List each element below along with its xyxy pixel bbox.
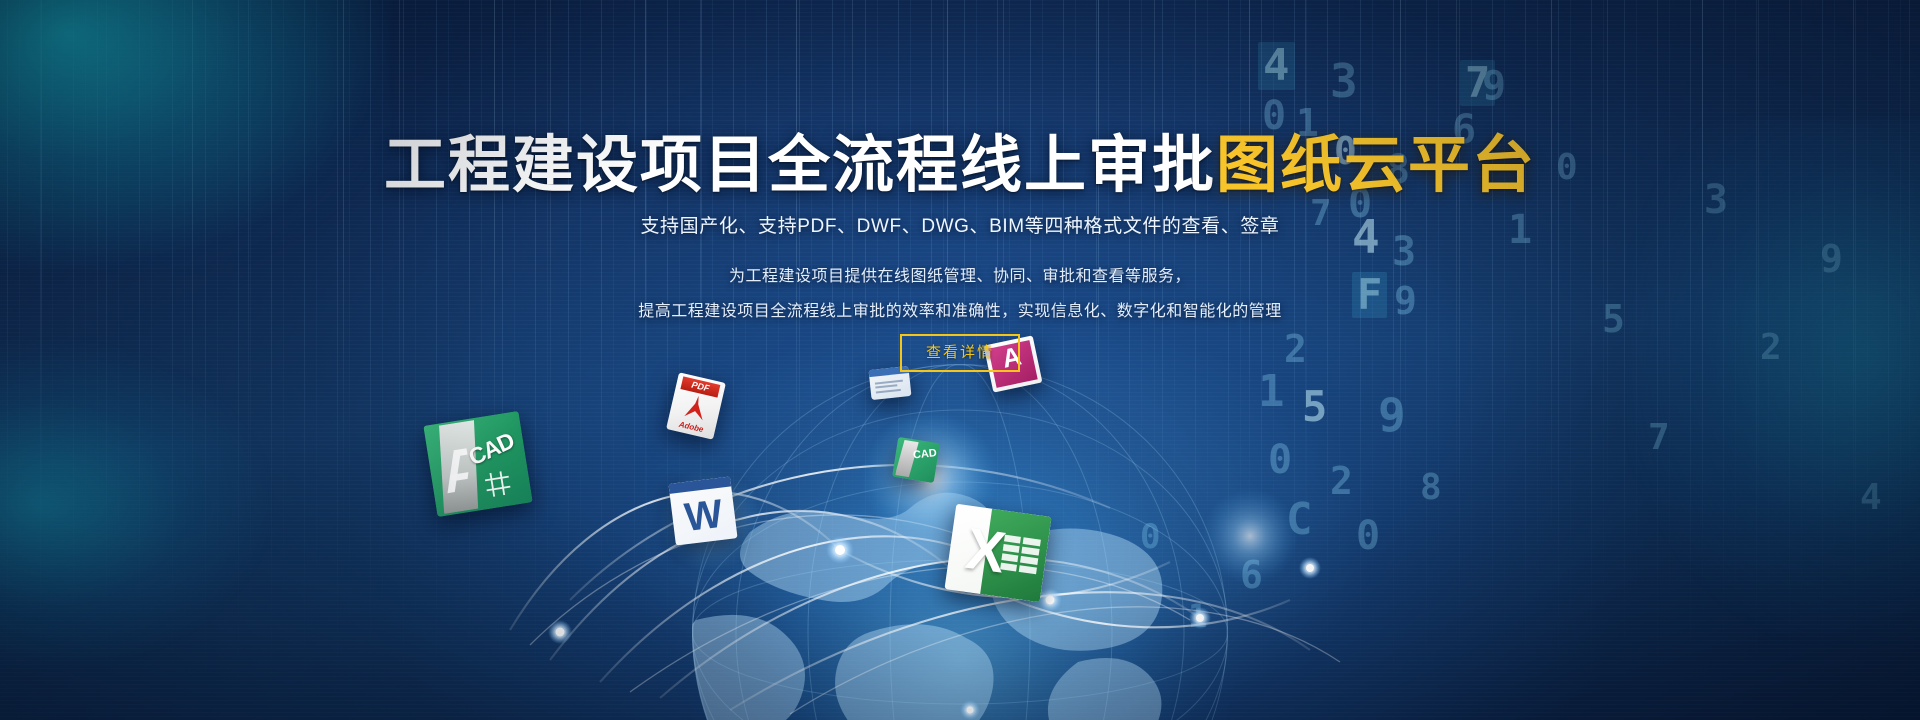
pdf-file-icon[interactable]: PDF Adobe [666, 372, 726, 439]
view-details-button[interactable]: 查看详情 [900, 334, 1020, 372]
description-line-2: 提高工程建设项目全流程线上审批的效率和准确性，实现信息化、数字化和智能化的管理 [0, 299, 1920, 325]
background-digit: 0 [1140, 520, 1160, 554]
background-digit: C [1286, 498, 1313, 542]
cta-wrapper: 查看详情 [0, 334, 1920, 372]
cad-small-file-icon[interactable]: CAD [892, 437, 940, 483]
page-title-main: 工程建设项目全流程线上审批 [384, 131, 1216, 200]
word-file-icon[interactable]: W [668, 476, 737, 545]
page-title-highlight: 图纸云平台 [1216, 131, 1536, 200]
background-digit: 9 [1482, 66, 1506, 106]
description-block: 为工程建设项目提供在线图纸管理、协同、审批和查看等服务， 提高工程建设项目全流程… [0, 264, 1920, 333]
background-digit: 0 [1262, 96, 1286, 136]
page-subtitle: 支持国产化、支持PDF、DWF、DWG、BIM等四种格式文件的查看、签章 [0, 211, 1920, 238]
description-line-1: 为工程建设项目提供在线图纸管理、协同、审批和查看等服务， [0, 264, 1920, 290]
background-digit: 1 [1258, 370, 1285, 414]
word-label: W [670, 486, 738, 545]
cad-grid-icon [481, 468, 514, 500]
cyan-glow-left-decoration [0, 340, 270, 670]
hero-banner: 4379016080743F9215902C0681057329401 [0, 0, 1920, 720]
background-digit: 0 [1356, 516, 1380, 556]
page-title: 工程建设项目全流程线上审批图纸云平台 [0, 133, 1920, 198]
background-digit: 0 [1268, 440, 1292, 480]
background-digit: 3 [1330, 58, 1358, 104]
background-digit: 7 [1460, 60, 1495, 106]
background-digit: 2 [1330, 462, 1353, 500]
background-digit: 6 [1240, 556, 1263, 594]
background-digit: 8 [1420, 470, 1442, 506]
background-digit: 7 [1648, 420, 1670, 456]
background-digit: 4 [1860, 480, 1882, 516]
excel-file-icon[interactable]: X [944, 504, 1051, 603]
background-digit: 9 [1378, 392, 1406, 438]
background-digit: 4 [1258, 42, 1295, 90]
background-digit: 5 [1302, 386, 1327, 428]
cad-file-icon[interactable]: CAD [423, 411, 532, 517]
background-digit: 1 [1188, 600, 1207, 632]
cad-small-label: CAD [912, 447, 937, 461]
